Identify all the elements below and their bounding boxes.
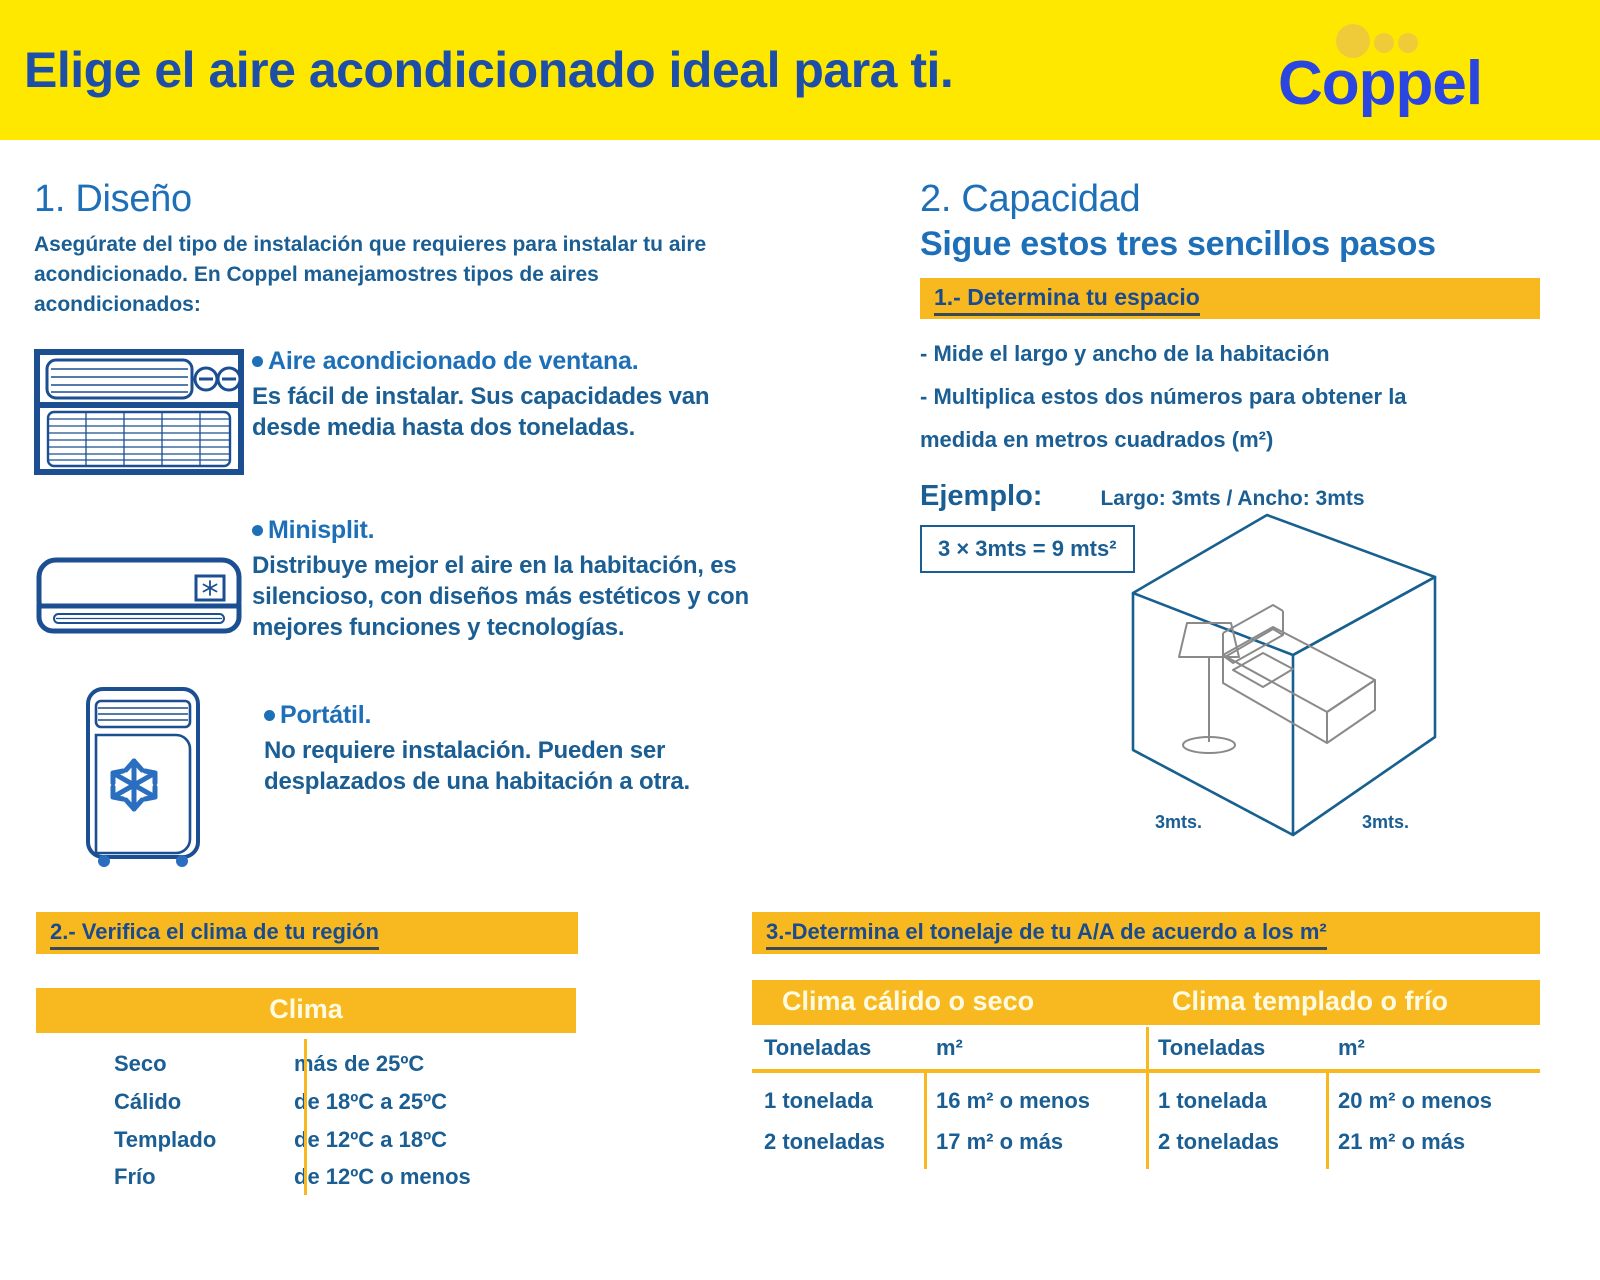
tonnage-divider-1	[924, 1073, 927, 1169]
climate-name-0: Seco	[36, 1045, 266, 1083]
design-item-window-heading: Aire acondicionado de ventana.	[252, 347, 772, 376]
tonnage-col-header-0: Toneladas	[752, 1029, 924, 1069]
climate-name-3: Frío	[36, 1158, 266, 1196]
step-1-label: 1.- Determina tu espacio	[934, 284, 1200, 316]
design-item-portable-heading-label: Portátil.	[280, 701, 371, 730]
design-item-portable-text: Portátil. No requiere instalación. Puede…	[264, 701, 764, 797]
example-label: Ejemplo:	[920, 480, 1042, 513]
design-item-minisplit-body: Distribuye mejor el aire en la habitació…	[252, 551, 792, 643]
design-item-minisplit: Minisplit. Distribuye mejor el aire en l…	[34, 516, 824, 653]
room-measure-right: 3mts.	[1362, 812, 1409, 833]
design-item-portable-heading: Portátil.	[264, 701, 764, 730]
climate-range-2: de 12ºC a 18ºC	[266, 1121, 447, 1159]
step-1-bullets: - Mide el largo y ancho de la habitación…	[920, 333, 1560, 462]
minisplit-ac-icon	[34, 544, 244, 653]
climate-table-divider	[304, 1039, 307, 1195]
tonnage-r0-c1: 16 m² o menos	[924, 1081, 1146, 1122]
step-1-band: 1.- Determina tu espacio	[920, 278, 1540, 319]
tonnage-r1-c1: 17 m² o más	[924, 1122, 1146, 1163]
page-title: Elige el aire acondicionado ideal para t…	[24, 41, 953, 99]
climate-table: Clima Seco más de 25ºC Cálido de 18ºC a …	[36, 988, 576, 1196]
logo-wordmark: Coppel	[1278, 48, 1482, 119]
tonnage-col-header-1: m²	[924, 1029, 1146, 1069]
room-measure-left: 3mts.	[1155, 812, 1202, 833]
bullet-icon	[252, 525, 263, 536]
design-item-window-heading-label: Aire acondicionado de ventana.	[268, 347, 638, 376]
step-2-label: 2.- Verifica el clima de tu región	[50, 919, 379, 950]
tonnage-table: Clima cálido o seco Clima templado o frí…	[752, 980, 1540, 1162]
design-item-minisplit-heading-label: Minisplit.	[268, 516, 374, 545]
step-1-bullet-1: - Multiplica estos dos números para obte…	[920, 376, 1560, 419]
climate-name-2: Templado	[36, 1121, 266, 1159]
tonnage-r0-c3: 20 m² o menos	[1326, 1081, 1540, 1122]
design-section-title: 1. Diseño	[34, 178, 824, 221]
tonnage-r0-c0: 1 tonelada	[752, 1081, 924, 1122]
infographic-page: Elige el aire acondicionado ideal para t…	[0, 0, 1600, 1280]
room-3d-illustration	[1105, 505, 1465, 845]
design-item-window-text: Aire acondicionado de ventana. Es fácil …	[252, 347, 772, 443]
page-header: Elige el aire acondicionado ideal para t…	[0, 0, 1600, 140]
tonnage-r1-c0: 2 toneladas	[752, 1122, 924, 1163]
capacity-section-title: 2. Capacidad	[920, 178, 1560, 221]
design-item-minisplit-heading: Minisplit.	[252, 516, 792, 545]
step-2-band: 2.- Verifica el clima de tu región	[36, 912, 578, 954]
climate-range-3: de 12ºC o menos	[266, 1158, 471, 1196]
coppel-logo: Coppel	[1278, 22, 1508, 128]
design-item-minisplit-text: Minisplit. Distribuye mejor el aire en l…	[252, 516, 792, 643]
climate-table-body: Seco más de 25ºC Cálido de 18ºC a 25ºC T…	[36, 1033, 576, 1196]
climate-table-header: Clima	[36, 988, 576, 1033]
design-item-portable-body: No requiere instalación. Pueden ser desp…	[264, 736, 764, 797]
tonnage-group-header-1: Clima templado o frío	[1150, 980, 1540, 1025]
tonnage-r0-c2: 1 tonelada	[1146, 1081, 1326, 1122]
design-intro-text: Asegúrate del tipo de instalación que re…	[34, 230, 734, 319]
step-3-band: 3.-Determina el tonelaje de tu A/A de ac…	[752, 912, 1540, 954]
design-item-window-body: Es fácil de instalar. Sus capacidades va…	[252, 382, 772, 443]
tonnage-r1-c2: 2 toneladas	[1146, 1122, 1326, 1163]
portable-ac-icon	[70, 683, 230, 873]
bullet-icon	[252, 356, 263, 367]
tonnage-r1-c3: 21 m² o más	[1326, 1122, 1540, 1163]
climate-range-1: de 18ºC a 25ºC	[266, 1083, 447, 1121]
area-formula: 3 × 3mts = 9 mts²	[920, 525, 1135, 573]
window-ac-icon	[34, 347, 244, 482]
tonnage-col-header-2: Toneladas	[1146, 1029, 1326, 1069]
step-1-bullet-2: medida en metros cuadrados (m²)	[920, 419, 1560, 462]
step-3-label: 3.-Determina el tonelaje de tu A/A de ac…	[766, 919, 1327, 950]
tonnage-group-headers: Clima cálido o seco Clima templado o frí…	[752, 980, 1540, 1025]
tonnage-divider-3	[1326, 1073, 1329, 1169]
capacity-section-subtitle: Sigue estos tres sencillos pasos	[920, 225, 1560, 264]
design-item-window: Aire acondicionado de ventana. Es fácil …	[34, 347, 824, 482]
tonnage-divider-2	[1146, 1027, 1149, 1169]
climate-range-0: más de 25ºC	[266, 1045, 424, 1083]
design-item-portable: Portátil. No requiere instalación. Puede…	[34, 683, 824, 873]
design-section: 1. Diseño Asegúrate del tipo de instalac…	[34, 178, 824, 873]
tonnage-table-body: 1 tonelada 16 m² o menos 1 tonelada 20 m…	[752, 1073, 1540, 1162]
tonnage-col-header-3: m²	[1326, 1029, 1540, 1069]
climate-name-1: Cálido	[36, 1083, 266, 1121]
bullet-icon	[264, 710, 275, 721]
step-1-bullet-0: - Mide el largo y ancho de la habitación	[920, 333, 1560, 376]
tonnage-group-header-0: Clima cálido o seco	[752, 980, 1150, 1025]
